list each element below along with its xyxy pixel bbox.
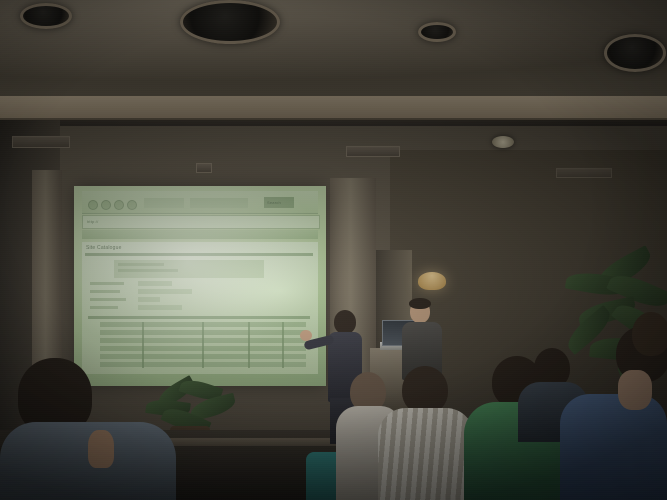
recessed-downlight-2: [180, 0, 280, 44]
photo-scene: Search http:// Site Catalogue: [0, 0, 667, 500]
recessed-downlight-1: [20, 3, 72, 29]
recessed-downlight-3: [418, 22, 456, 42]
room-shading: [0, 120, 667, 500]
recessed-downlight-4: [604, 34, 666, 72]
